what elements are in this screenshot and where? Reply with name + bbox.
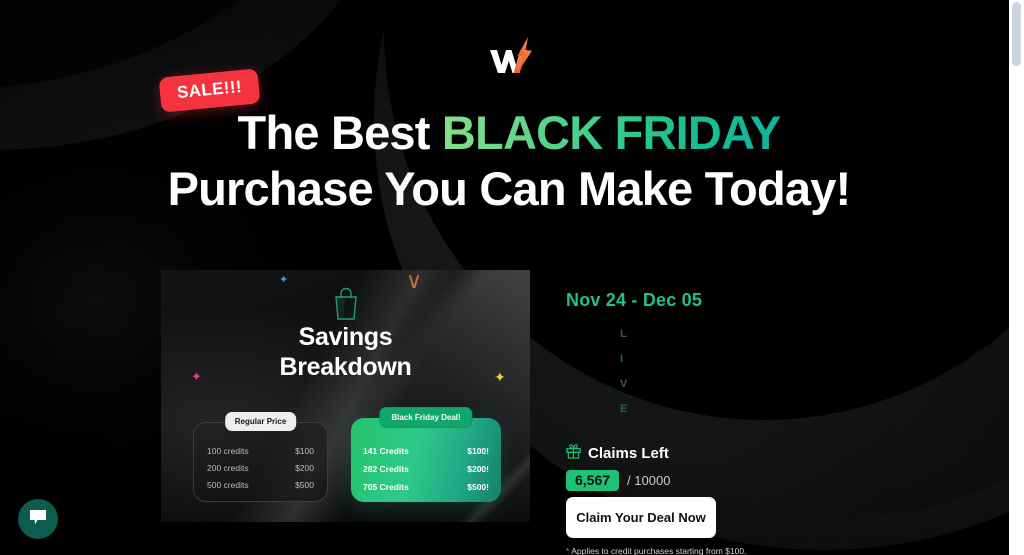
live-indicator: LIVE — [620, 322, 628, 422]
savings-breakdown-card: Savings Breakdown ✦∨✦✦ Regular Price 100… — [161, 270, 530, 522]
chevron-orange: ∨ — [406, 270, 422, 292]
deal-price-row: 141 Credits$100! — [363, 442, 489, 460]
headline-line-1: The Best BLACK FRIDAY — [0, 109, 1018, 157]
w-lightning-logo[interactable] — [484, 33, 540, 79]
footnote-text: Applies to credit purchases starting fro… — [569, 546, 746, 555]
headline-prefix: The Best — [238, 106, 442, 159]
claims-count: 6,567 / 10000 — [566, 470, 670, 491]
regular-price-price: $100 — [295, 443, 314, 460]
star-cyan: ✦ — [279, 275, 288, 286]
deal-price-price: $500! — [467, 478, 489, 496]
page-scrollbar[interactable] — [1009, 0, 1024, 555]
live-letter: E — [620, 397, 628, 422]
regular-price-rows: 100 credits$100200 credits$200500 credit… — [194, 443, 327, 494]
regular-price-row: 500 credits$500 — [207, 477, 314, 494]
star-pink: ✦ — [191, 370, 202, 383]
claims-left-header: Claims Left — [566, 443, 669, 464]
regular-price-credits: 500 credits — [207, 477, 249, 494]
live-letter: I — [620, 347, 628, 372]
black-friday-deal-badge: Black Friday Deal! — [379, 407, 472, 428]
page-headline: The Best BLACK FRIDAY Purchase You Can M… — [0, 109, 1018, 213]
claims-left-label: Claims Left — [588, 445, 669, 462]
promo-footnote: * Applies to credit purchases starting f… — [566, 546, 747, 555]
savings-title-line-1: Savings — [161, 322, 530, 352]
regular-price-box: Regular Price 100 credits$100200 credits… — [193, 422, 328, 502]
regular-price-badge: Regular Price — [225, 412, 297, 431]
black-friday-deal-box: Black Friday Deal! 141 Credits$100!282 C… — [351, 418, 501, 502]
regular-price-credits: 200 credits — [207, 460, 249, 477]
regular-price-row: 100 credits$100 — [207, 443, 314, 460]
deal-price-price: $100! — [467, 442, 489, 460]
claim-your-deal-button[interactable]: Claim Your Deal Now — [566, 497, 716, 538]
deal-price-price: $200! — [467, 460, 489, 478]
black-friday-deal-rows: 141 Credits$100!282 Credits$200!705 Cred… — [351, 442, 501, 496]
savings-title: Savings Breakdown — [161, 322, 530, 382]
live-letter: L — [620, 322, 628, 347]
chat-bubble-icon — [28, 508, 48, 531]
black-friday-promo-page: SALE!!! The Best BLACK FRIDAY Purchase Y… — [0, 0, 1024, 555]
deal-price-credits: 282 Credits — [363, 460, 409, 478]
claims-total: / 10000 — [627, 473, 670, 488]
gift-icon — [566, 443, 581, 464]
star-yellow: ✦ — [494, 370, 506, 384]
scrollbar-thumb[interactable] — [1012, 2, 1021, 66]
headline-accent: BLACK FRIDAY — [442, 106, 781, 159]
deal-price-credits: 141 Credits — [363, 442, 409, 460]
promo-details-column: Nov 24 - Dec 05 LIVE Claims Left 6,567 /… — [566, 290, 866, 311]
headline-line-2: Purchase You Can Make Today! — [0, 165, 1018, 213]
deal-price-credits: 705 Credits — [363, 478, 409, 496]
regular-price-row: 200 credits$200 — [207, 460, 314, 477]
promo-date-range: Nov 24 - Dec 05 — [566, 290, 866, 311]
regular-price-credits: 100 credits — [207, 443, 249, 460]
regular-price-price: $500 — [295, 477, 314, 494]
live-letter: V — [620, 372, 628, 397]
deal-price-row: 282 Credits$200! — [363, 460, 489, 478]
shopping-bag-icon — [330, 286, 362, 327]
claims-current-badge: 6,567 — [566, 470, 619, 491]
deal-price-row: 705 Credits$500! — [363, 478, 489, 496]
chat-widget-button[interactable] — [18, 499, 58, 539]
savings-title-line-2: Breakdown — [161, 352, 530, 382]
regular-price-price: $200 — [295, 460, 314, 477]
